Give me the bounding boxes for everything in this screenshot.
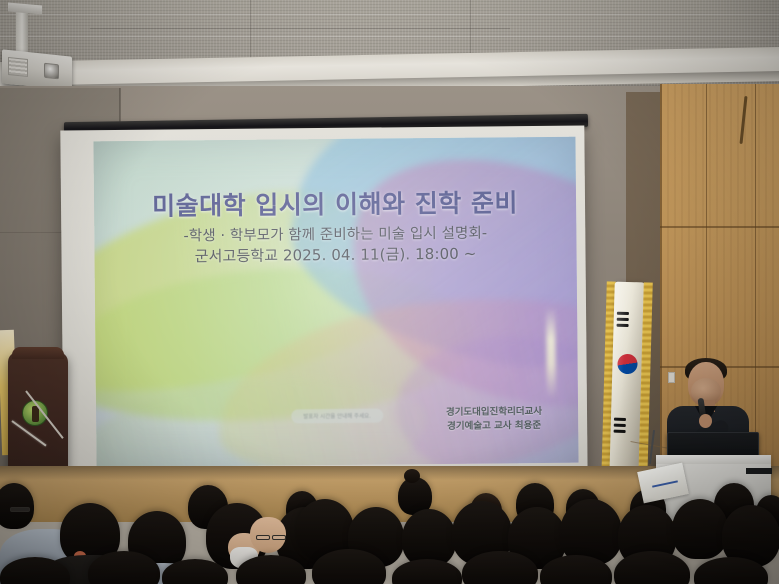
ceiling-projector [2, 49, 72, 90]
ceiling-seam [0, 36, 779, 37]
ceiling-panel-edge [90, 28, 510, 29]
projector-vent [8, 57, 28, 77]
korean-flag [601, 281, 653, 482]
lectern-top [12, 347, 64, 359]
photo-scene: 미술대학 입시의 이해와 진학 준비 -학생 · 학부모가 함께 준비하는 미술… [0, 0, 779, 584]
ceiling-seam [0, 14, 779, 15]
eyeglasses-icon [256, 535, 270, 540]
slide-credit-line-1: 경기도대입진학리더교사 [446, 405, 542, 420]
slide-credit-line-2: 경기예술고 교사 최용준 [446, 419, 542, 434]
audience-hair-bun [404, 469, 420, 483]
ceiling-panel-edge [250, 0, 251, 62]
presenter-hand [699, 414, 712, 428]
slide-title: 미술대학 입시의 이해와 진학 준비 [94, 183, 576, 224]
projector-glare [546, 307, 556, 399]
audience-head [392, 559, 462, 584]
slide-credit: 경기도대입진학리더교사 경기예술고 교사 최용준 [446, 405, 542, 433]
wood-panel-seam [660, 226, 779, 228]
audience-head [672, 499, 728, 559]
projector-lens [44, 63, 59, 80]
projected-slide: 미술대학 입시의 이해와 진학 준비 -학생 · 학부모가 함께 준비하는 미술… [93, 137, 578, 468]
projector-mount-arm [16, 8, 28, 57]
eyeglasses-icon [10, 507, 30, 512]
eyeglasses-icon [272, 535, 286, 540]
ceiling-panel-edge [470, 0, 471, 58]
audience [0, 455, 779, 584]
projection-screen: 미술대학 입시의 이해와 진학 준비 -학생 · 학부모가 함께 준비하는 미술… [56, 118, 586, 484]
audience-head [0, 483, 34, 529]
slide-note-box: 발표자 시간을 안내해 주세요. [291, 409, 383, 424]
